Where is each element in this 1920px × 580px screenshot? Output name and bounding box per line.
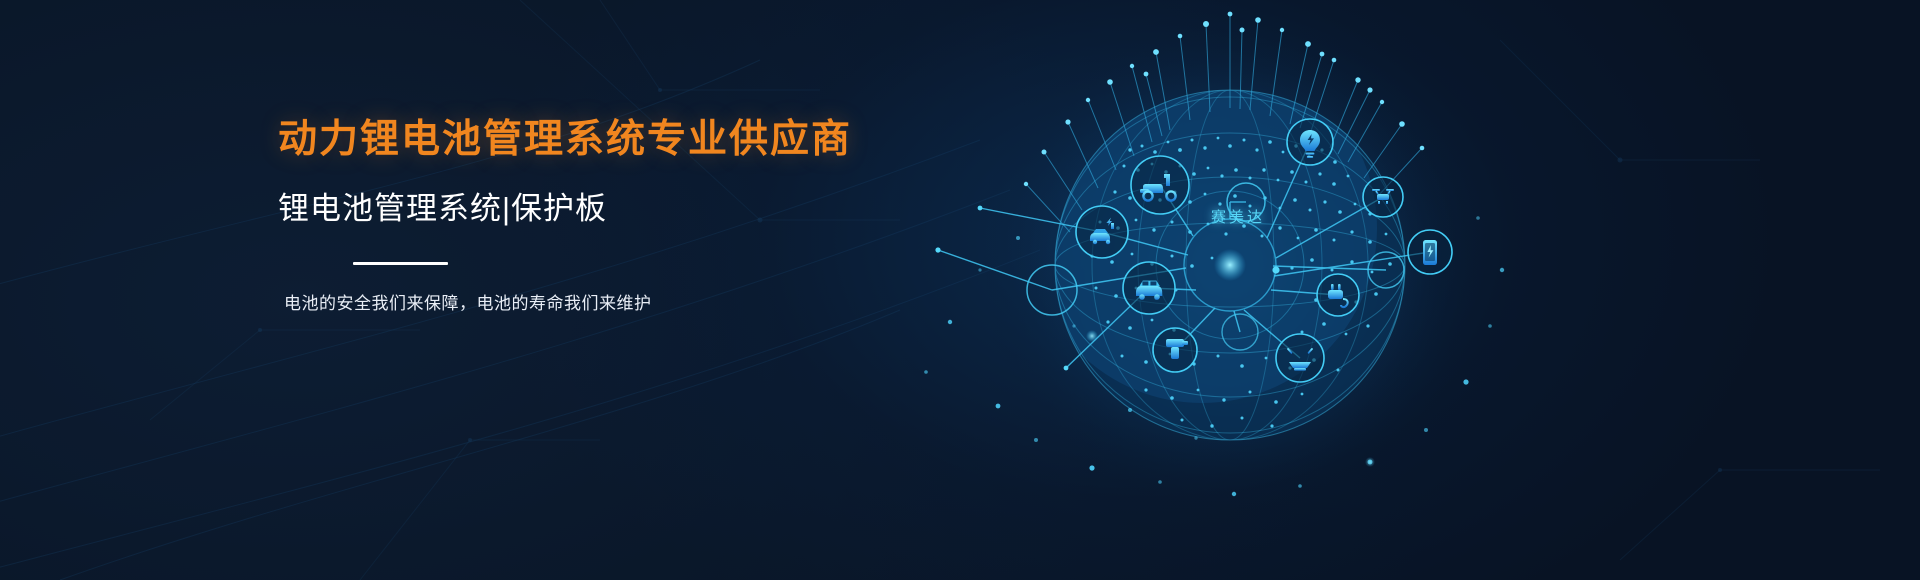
hero-copy: 动力锂电池管理系统专业供应商 锂电池管理系统|保护板 电池的安全我们来保障，电池…: [278, 120, 898, 312]
node-bulb: [1287, 119, 1333, 165]
node-plug: [1317, 274, 1359, 316]
node-sun: [1276, 334, 1324, 382]
node-drill: [1153, 328, 1197, 372]
hero-banner: 动力锂电池管理系统专业供应商 锂电池管理系统|保护板 电池的安全我们来保障，电池…: [0, 0, 1920, 580]
divider-rule: [353, 262, 448, 265]
node-car: [1123, 262, 1175, 314]
headline: 动力锂电池管理系统专业供应商: [278, 120, 898, 159]
globe-network-graphic: 赛美达: [830, 0, 1530, 580]
phone-battery-icon: [1423, 240, 1437, 265]
node-car-charging: [1076, 206, 1128, 258]
node-drone: [1363, 177, 1403, 217]
tagline: 电池的安全我们来保障，电池的寿命我们来维护: [284, 295, 898, 312]
hub-core-glow: [1214, 249, 1246, 281]
node-phone: [1408, 230, 1452, 274]
subtitle: 锂电池管理系统|保护板: [278, 193, 898, 224]
sparkle-glow: [1365, 457, 1375, 467]
node-scooter: [1131, 156, 1189, 214]
sparkle-glow: [1086, 330, 1098, 342]
